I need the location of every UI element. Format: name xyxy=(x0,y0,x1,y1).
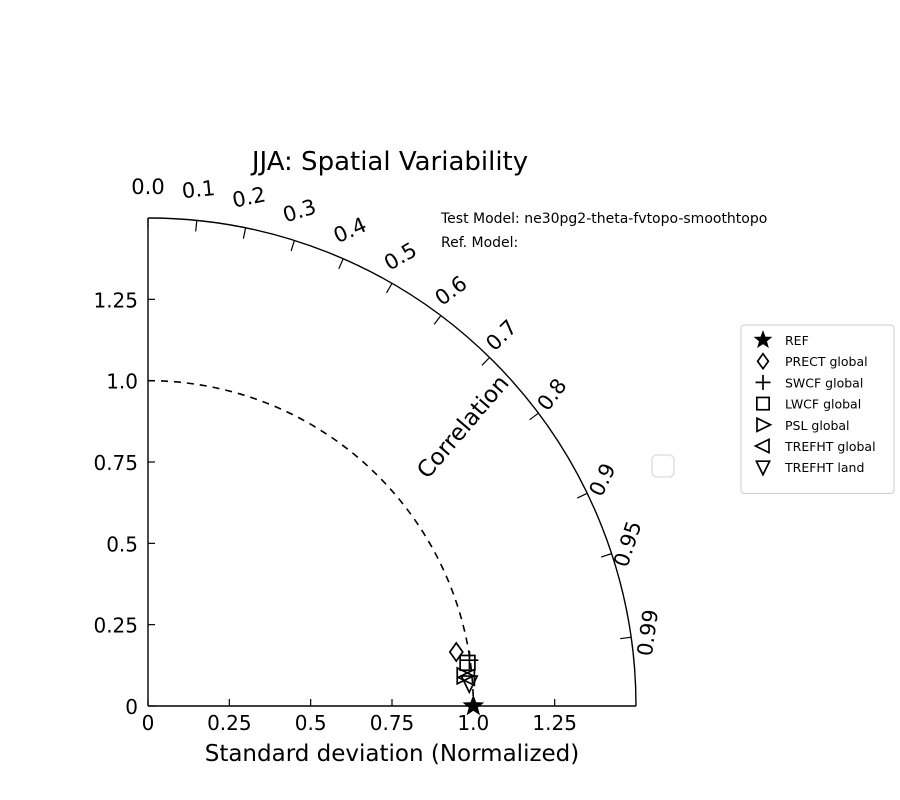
correlation-tick-label: 0.8 xyxy=(532,374,571,415)
taylor-diagram-canvas: JJA: Spatial Variability Test Model: ne3… xyxy=(0,0,900,800)
legend-item-label: PSL global xyxy=(785,418,850,433)
data-point-marker xyxy=(460,655,475,670)
ghost-square-artifact xyxy=(652,455,674,477)
data-point-markers xyxy=(450,643,482,713)
radial-tick-label: 0.25 xyxy=(207,711,252,735)
ghost-square-shape xyxy=(652,455,674,477)
reference-std-arc xyxy=(148,381,473,706)
legend-item-label: TREFHT land xyxy=(784,460,864,475)
correlation-tick-label: 0.5 xyxy=(380,238,421,275)
radial-tick-label: 1.25 xyxy=(532,711,577,735)
vertical-tick-label: 0.25 xyxy=(93,614,138,638)
radial-axis-ticks: 00.250.50.751.01.25 xyxy=(142,699,577,735)
ref-model-annotation: Ref. Model: xyxy=(441,235,518,251)
correlation-tick-label: 0.9 xyxy=(584,460,620,501)
correlation-tick-label: 0.0 xyxy=(131,175,164,199)
taylor-diagram-figure: JJA: Spatial Variability Test Model: ne3… xyxy=(0,0,900,800)
correlation-axis-title-text: Correlation xyxy=(412,371,514,484)
legend-item-label: PRECT global xyxy=(785,354,868,369)
radial-tick-label: 0.5 xyxy=(295,711,327,735)
correlation-tick-label: 0.6 xyxy=(430,271,471,310)
legend[interactable]: REFPRECT globalSWCF globalLWCF globalPSL… xyxy=(741,325,894,493)
correlation-tick-label: 0.2 xyxy=(230,182,268,212)
correlation-tick-label: 0.4 xyxy=(330,213,370,248)
correlation-tick-label: 0.7 xyxy=(481,315,522,356)
page-title: JJA: Spatial Variability xyxy=(250,147,528,177)
correlation-outer-arc xyxy=(148,218,636,706)
correlation-tick-label: 0.3 xyxy=(280,194,319,227)
legend-item-label: REF xyxy=(785,333,809,348)
vertical-tick-label: 0 xyxy=(125,695,138,719)
legend-item-label: SWCF global xyxy=(785,375,863,390)
vertical-tick-label: 0.5 xyxy=(106,532,138,556)
correlation-tick-label: 0.99 xyxy=(633,608,663,658)
correlation-tick-label: 0.1 xyxy=(181,176,217,203)
correlation-axis-title: Correlation xyxy=(412,371,514,484)
data-point-marker xyxy=(460,651,478,669)
vertical-tick-label: 1.25 xyxy=(93,288,138,312)
correlation-tick-label: 0.95 xyxy=(609,518,646,570)
legend-item-label: TREFHT global xyxy=(784,439,876,454)
vertical-axis-ticks: 00.250.50.751.01.25 xyxy=(93,288,155,719)
radial-axis-title: Standard deviation (Normalized) xyxy=(205,741,580,767)
vertical-tick-label: 1.0 xyxy=(106,370,138,394)
correlation-tick-labels: 0.00.10.20.30.40.50.60.70.80.90.950.99 xyxy=(131,175,663,658)
radial-tick-label: 0 xyxy=(142,711,155,735)
vertical-tick-label: 0.75 xyxy=(93,451,138,475)
radial-tick-label: 0.75 xyxy=(370,711,415,735)
legend-item-label: LWCF global xyxy=(785,397,861,412)
radial-tick-label: 1.0 xyxy=(457,711,489,735)
plot-frame xyxy=(148,218,636,706)
test-model-annotation: Test Model: ne30pg2-theta-fvtopo-smootht… xyxy=(440,211,767,227)
